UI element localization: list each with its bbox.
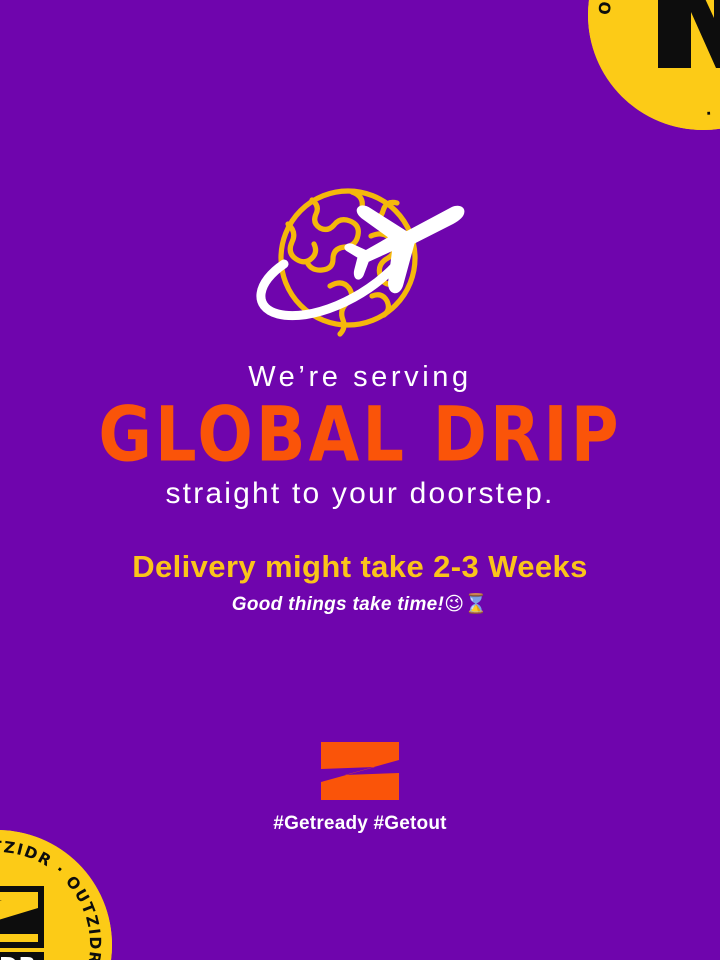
badge-bottom-left: OUTZIDR · OUTZIDR · OUTZIDR · OUTZIDR · … [0,830,112,960]
headline-global-drip: GLOBAL DRIP [0,398,720,474]
tagline-row: Good things take time!😉⌛ [0,594,720,616]
hashtags-text: #Getready #Getout [0,813,720,835]
copy-block: We’re serving GLOBAL DRIP straight to yo… [0,362,720,616]
eyebrow-text: We’re serving [0,362,720,392]
airplane-icon [342,198,470,296]
subhead-text: straight to your doorstep. [0,478,720,510]
globe-airplane-illustration [244,178,476,338]
wink-face-emoji-icon: 😉 [444,593,464,615]
delivery-notice: Delivery might take 2-3 Weeks [0,550,720,584]
badge-wordmark: OUTZIDR [0,954,37,960]
hourglass-emoji-icon: ⌛ [464,593,488,615]
tagline-text: Good things take time! [232,594,444,615]
brand-z-logo-icon [321,742,399,800]
poster-canvas: OUTZIDR · OUTZIDR · OUTZIDR · OUTZIDR · … [0,0,720,960]
footer-block: #Getready #Getout [0,742,720,835]
badge-top-right: OUTZIDR · OUTZIDR · OUTZIDR · OUTZIDR · [588,0,720,130]
